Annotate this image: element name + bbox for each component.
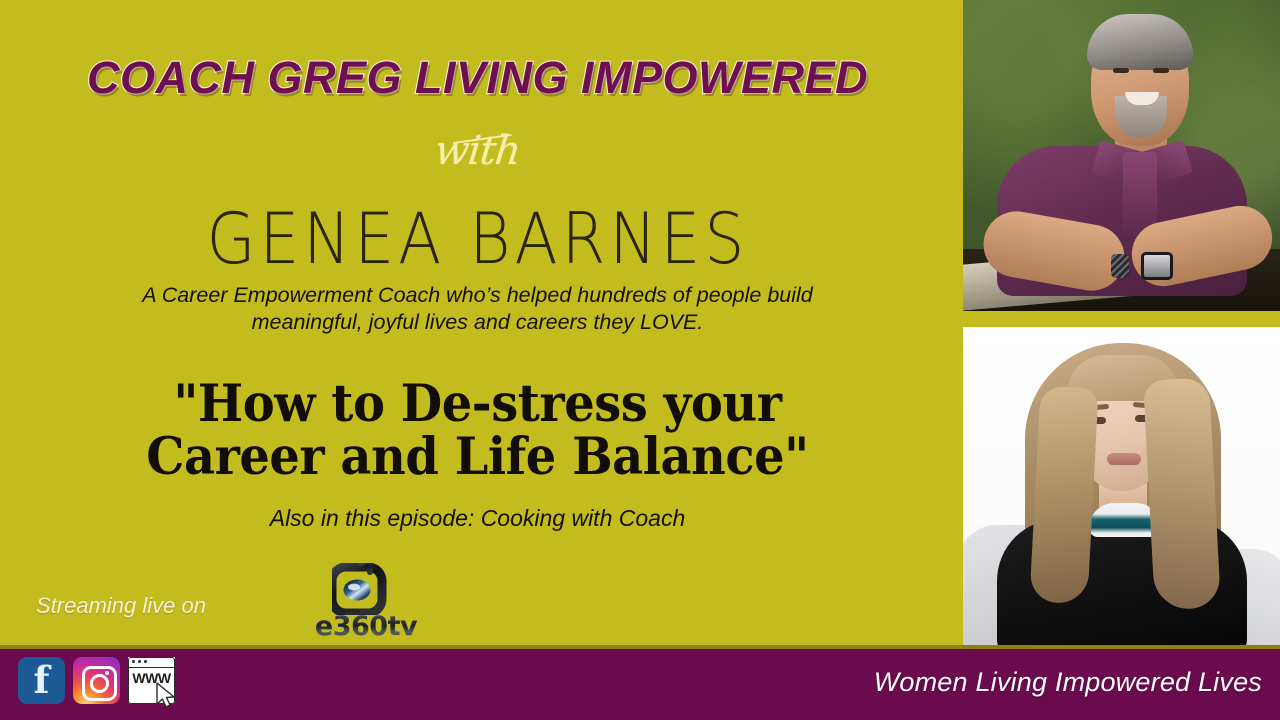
e360tv-camera-aperture-icon: [332, 563, 388, 615]
guest-bio: A Career Empowerment Coach who’s helped …: [55, 282, 900, 336]
streaming-row: Streaming live on: [36, 565, 426, 647]
instagram-icon[interactable]: [73, 657, 120, 704]
e360tv-wordmark: e360tv: [306, 613, 426, 641]
photo-column: [955, 0, 1280, 645]
guest-name: GENEA BARNES: [0, 198, 955, 280]
social-links-row: f WWW: [18, 657, 175, 704]
mouse-cursor-icon: [155, 682, 177, 708]
e360tv-logo: e360tv: [306, 565, 426, 647]
facebook-glyph: f: [18, 657, 65, 704]
instagram-lens-shape: [90, 674, 109, 693]
with-label: with: [0, 128, 957, 174]
facebook-icon[interactable]: f: [18, 657, 65, 704]
streaming-label: Streaming live on: [36, 593, 206, 619]
host-photo: [963, 0, 1280, 311]
guest-bio-line-2: meaningful, joyful lives and careers the…: [55, 309, 900, 336]
guest-photo: [963, 327, 1280, 645]
show-title: COACH GREG LIVING IMPOWERED: [0, 52, 955, 104]
guest-bio-line-1: A Career Empowerment Coach who’s helped …: [142, 283, 813, 307]
show-info-panel: COACH GREG LIVING IMPOWERED with GENEA B…: [0, 0, 955, 645]
episode-secondary-segment: Also in this episode: Cooking with Coach: [0, 505, 955, 532]
episode-title-line-1: "How to De-stress your: [173, 374, 781, 434]
network-tagline: Women Living Impowered Lives: [874, 667, 1262, 698]
bottom-bar: f WWW Women Living Impowered Lives: [0, 649, 1280, 720]
website-icon[interactable]: WWW: [128, 657, 175, 704]
episode-title-line-2: Career and Life Balance": [29, 431, 927, 484]
instagram-dot-shape: [105, 671, 110, 676]
broadcast-graphic: COACH GREG LIVING IMPOWERED with GENEA B…: [0, 0, 1280, 720]
episode-title: "How to De-stress your Career and Life B…: [29, 378, 927, 484]
